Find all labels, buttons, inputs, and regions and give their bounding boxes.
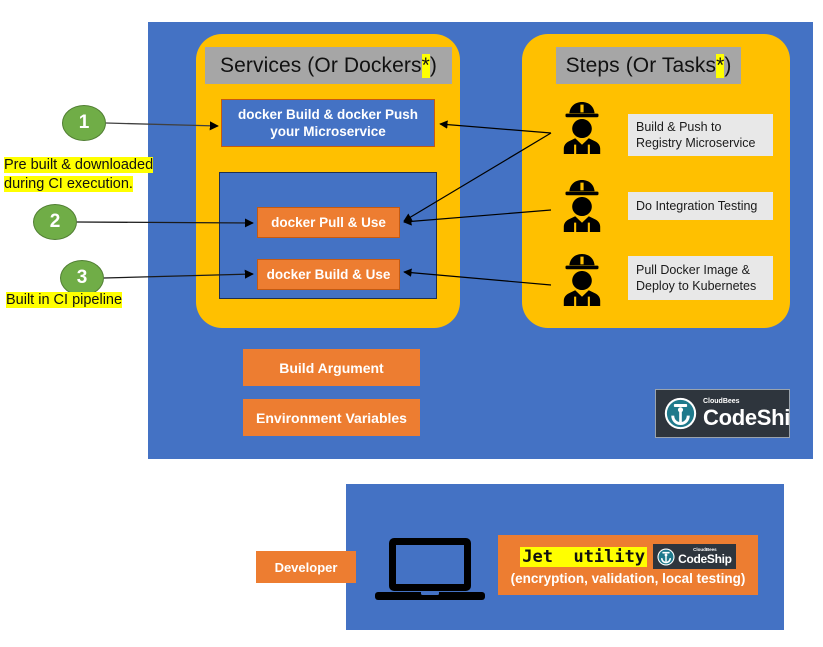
service-box-docker-pull[interactable]: docker Pull & Use (257, 207, 400, 238)
build-argument-label: Build Argument (279, 360, 383, 376)
note-built-in-ci: Built in CI pipeline (6, 291, 181, 310)
badge-1-number: 1 (79, 112, 90, 134)
environment-variables-label: Environment Variables (256, 410, 407, 426)
codeship-wordmark: CloudBees CodeShip (703, 398, 790, 429)
badge-2-number: 2 (50, 211, 61, 233)
badge-3-number: 3 (77, 267, 88, 289)
jet-utility-subtitle: (encryption, validation, local testing) (511, 571, 746, 586)
step-label-integration-testing[interactable]: Do Integration Testing (628, 192, 773, 220)
environment-variables-box[interactable]: Environment Variables (243, 399, 420, 436)
note-prebuilt-line2: during CI execution. (4, 176, 133, 192)
codeship-logo: CloudBees CodeShip (655, 389, 790, 438)
note-prebuilt-downloaded: Pre built & downloaded during CI executi… (4, 156, 179, 194)
jet-utility-box[interactable]: Jet utility CloudBees CodeShip (498, 535, 758, 595)
step-label-deploy-kubernetes-text: Pull Docker Image & Deploy to Kubernetes (636, 262, 765, 294)
codeship-wordmark: CloudBees CodeShip (678, 548, 732, 566)
codeship-anchor-icon (657, 548, 675, 566)
badge-1: 1 (62, 105, 106, 141)
diagram-canvas: Services (Or Dockers*) docker Build & do… (0, 0, 823, 647)
developer-box-label: Developer (275, 560, 338, 575)
cloudbees-label: CloudBees (703, 398, 790, 405)
steps-header-paren: ) (724, 54, 731, 78)
step-label-build-push-text: Build & Push to Registry Microservice (636, 119, 765, 151)
codeship-label: CodeShip (703, 407, 790, 429)
codeship-anchor-icon (664, 397, 697, 430)
worker-icon (556, 252, 608, 306)
service-box-docker-build[interactable]: docker Build & Use (257, 259, 400, 290)
badge-2: 2 (33, 204, 77, 240)
service-box-build-push[interactable]: docker Build & docker Push your Microser… (221, 99, 435, 147)
service-box-build-push-label: docker Build & docker Push your Microser… (222, 106, 434, 140)
steps-header-asterisk: * (716, 54, 724, 78)
step-label-deploy-kubernetes[interactable]: Pull Docker Image & Deploy to Kubernetes (628, 256, 773, 300)
codeship-label: CodeShip (678, 553, 732, 565)
developer-box[interactable]: Developer (256, 551, 356, 583)
jet-utility-title: Jet utility (520, 547, 647, 567)
steps-header-label: Steps (Or Tasks (566, 54, 717, 78)
laptop-icon (375, 535, 485, 605)
services-header-label: Services (Or Dockers (220, 54, 422, 78)
services-header-asterisk: * (422, 54, 430, 78)
services-header-paren: ) (430, 54, 437, 78)
service-box-docker-pull-label: docker Pull & Use (271, 215, 386, 230)
step-label-integration-testing-text: Do Integration Testing (636, 198, 757, 214)
note-prebuilt-line1: Pre built & downloaded (4, 157, 153, 173)
service-box-docker-build-label: docker Build & Use (267, 267, 391, 282)
worker-icon (556, 100, 608, 154)
note-built-in-ci-line1: Built in CI pipeline (6, 292, 122, 308)
services-card-header: Services (Or Dockers*) (205, 47, 452, 84)
build-argument-box[interactable]: Build Argument (243, 349, 420, 386)
codeship-logo: CloudBees CodeShip (653, 544, 736, 569)
steps-card-header: Steps (Or Tasks*) (556, 47, 741, 84)
jet-utility-title-row: Jet utility CloudBees CodeShip (520, 544, 735, 569)
step-label-build-push[interactable]: Build & Push to Registry Microservice (628, 114, 773, 156)
worker-icon (556, 178, 608, 232)
